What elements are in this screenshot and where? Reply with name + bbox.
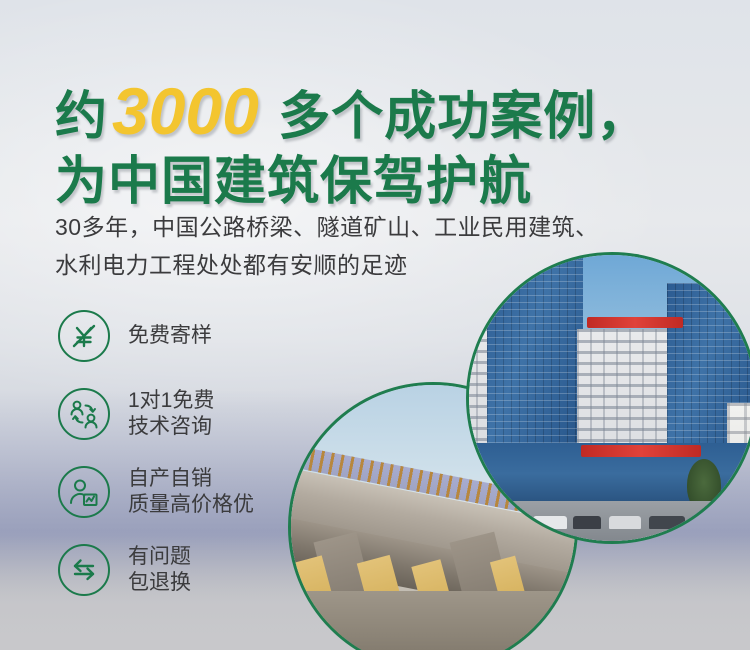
parked-car — [495, 516, 525, 529]
parked-car — [649, 516, 685, 529]
parked-car — [609, 516, 641, 529]
swap-arrows-icon — [58, 544, 110, 596]
headline-line-2: 为中国建筑保驾护航 — [55, 156, 649, 208]
feature-item-self-production: 自产自销 质量高价格优 — [58, 453, 318, 531]
feature-label-line-1: 有问题 — [128, 544, 191, 570]
subtitle-line-1: 30多年，中国公路桥梁、隧道矿山、工业民用建筑、 — [55, 208, 599, 246]
feature-label-line-2: 包退换 — [128, 570, 191, 596]
building-photo — [466, 252, 750, 544]
headline-number: 3000 — [108, 74, 263, 148]
rooftop-sign — [587, 317, 683, 328]
feature-label-line-2: 技术咨询 — [128, 414, 214, 440]
headline-suffix: 多个成功案例， — [263, 88, 649, 146]
person-chart-icon — [58, 466, 110, 518]
feature-label-line-1: 免费寄样 — [128, 324, 212, 347]
feature-item-returns: 有问题 包退换 — [58, 531, 318, 609]
feature-label-line-2: 质量高价格优 — [128, 492, 254, 518]
parked-car — [573, 516, 601, 529]
headline-prefix: 约 — [55, 88, 108, 146]
feature-list: 免费寄样 1对1免费 技术咨询 — [58, 297, 318, 609]
feature-item-consultation: 1对1免费 技术咨询 — [58, 375, 318, 453]
headline: 约3000 多个成功案例， 为中国建筑保驾护航 — [55, 78, 649, 208]
entrance-sign — [581, 445, 701, 457]
people-exchange-icon — [58, 388, 110, 440]
feature-label-line-1: 1对1免费 — [128, 388, 214, 414]
building-photo-content — [469, 255, 750, 541]
parked-car — [533, 516, 567, 529]
feature-label: 自产自销 质量高价格优 — [128, 466, 254, 518]
feature-label: 1对1免费 技术咨询 — [128, 388, 214, 440]
feature-label: 免费寄样 — [128, 323, 212, 349]
feature-label-line-1: 自产自销 — [128, 466, 254, 492]
bridge-ground — [291, 591, 575, 650]
no-yen-icon — [58, 310, 110, 362]
feature-label: 有问题 包退换 — [128, 544, 191, 596]
promo-banner: 约3000 多个成功案例， 为中国建筑保驾护航 30多年，中国公路桥梁、隧道矿山… — [0, 0, 750, 650]
feature-item-free-sample: 免费寄样 — [58, 297, 318, 375]
headline-line-1: 约3000 多个成功案例， — [55, 78, 649, 144]
